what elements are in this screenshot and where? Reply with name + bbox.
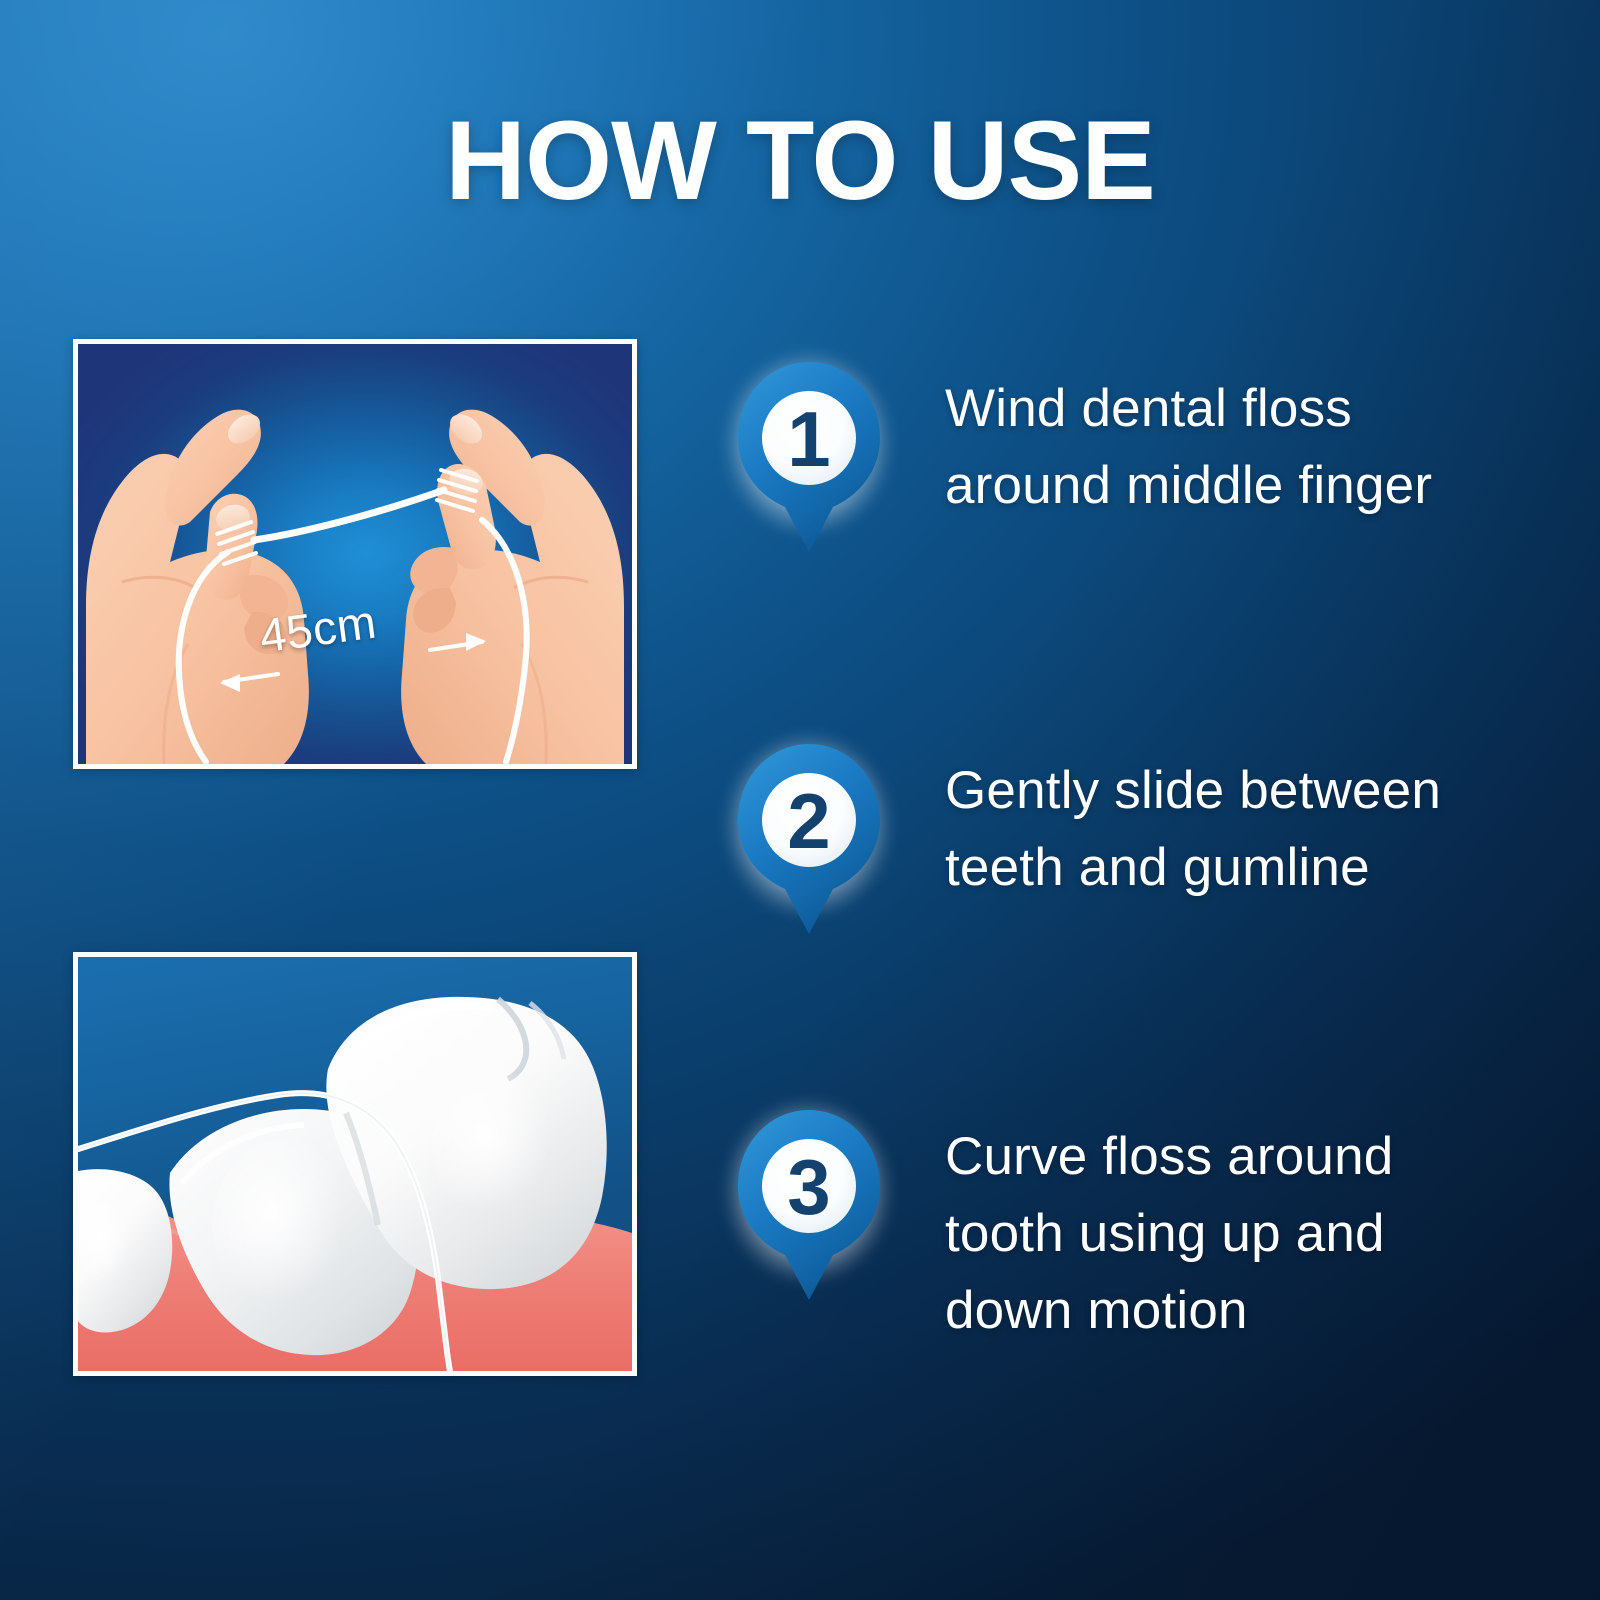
step-1-pin: 1 [716,346,901,571]
illustration-floss-between-teeth [73,952,637,1376]
right-hand [401,408,624,764]
step-2-label: Gently slide between teeth and gumline [945,752,1441,906]
illustration-teeth-inner [78,957,632,1371]
step-3-label: Curve floss around tooth using up and do… [945,1118,1393,1349]
step-3: 3 Curve floss around tooth using up and … [716,1094,1393,1349]
illustration-hands-inner [78,344,632,764]
how-to-use-infographic: HOW TO USE [0,0,1600,1600]
step-3-pin: 3 [716,1094,901,1319]
page-title: HOW TO USE [0,96,1600,225]
step-number: 3 [738,1110,880,1268]
step-number: 2 [738,744,880,902]
step-1: 1 Wind dental floss around middle finger [716,346,1432,571]
hands-floss-artwork [78,344,632,764]
step-1-label: Wind dental floss around middle finger [945,370,1432,524]
illustration-hands-winding-floss [73,339,637,769]
step-2-pin: 2 [716,728,901,953]
step-number: 1 [738,362,880,520]
teeth-floss-artwork [78,957,632,1371]
step-2: 2 Gently slide between teeth and gumline [716,728,1441,953]
